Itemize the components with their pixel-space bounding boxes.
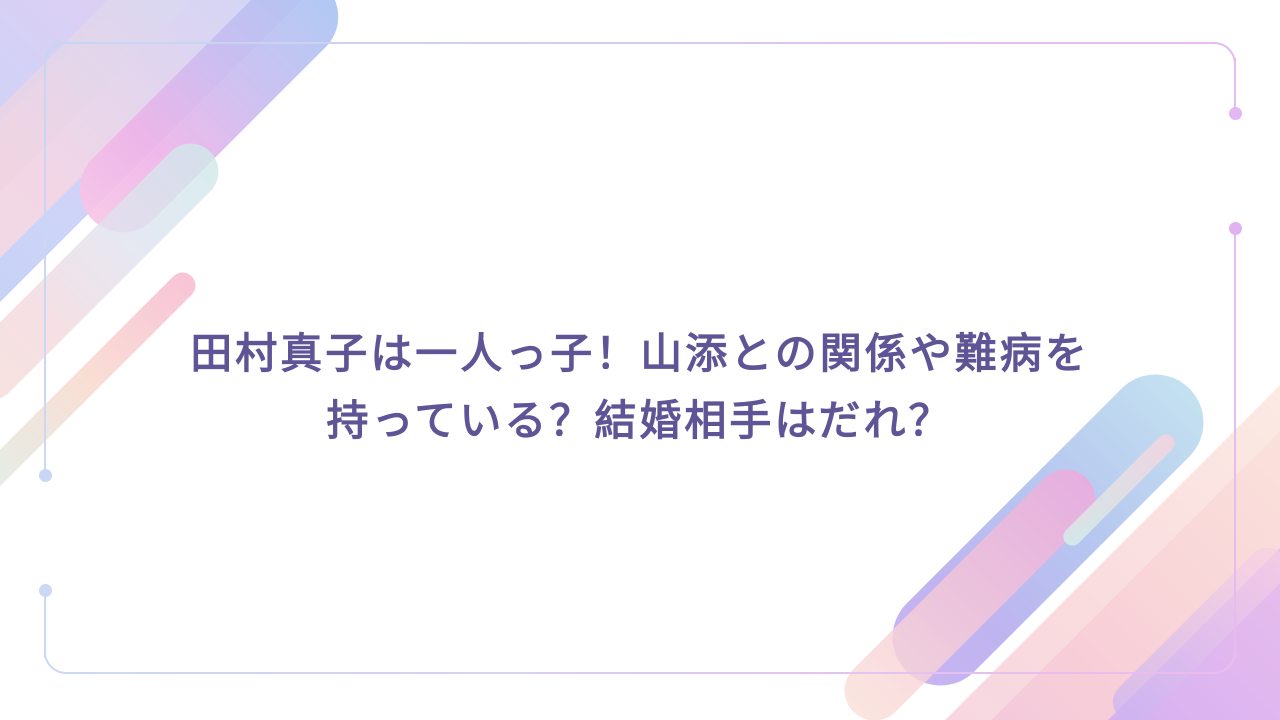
- frame-border-right-upper: [1234, 58, 1236, 113]
- eyecatch-canvas: 田村真子は一人っ子！山添との関係や難病を 持っている？結婚相手はだれ？: [0, 0, 1280, 720]
- frame-dot-right-lower: [1229, 222, 1242, 235]
- frame-corner-bottom-right: [1214, 652, 1236, 674]
- decor-band-top-left-primary: [0, 0, 470, 540]
- page-title-line-2: 持っている？結婚相手はだれ？: [326, 391, 953, 452]
- page-title-line-1: 田村真子は一人っ子！山添との関係や難病を: [190, 324, 1090, 385]
- decor-capsule-top-left-1: [62, 0, 356, 250]
- frame-border-left-lower: [44, 590, 46, 658]
- decor-capsule-bottom-right-2: [832, 457, 1108, 720]
- frame-corner-bottom-left: [44, 652, 66, 674]
- frame-corner-top-right: [1214, 42, 1236, 64]
- frame-border-bottom: [64, 672, 1217, 674]
- frame-border-top: [64, 42, 1217, 44]
- decor-band-top-left-secondary: [0, 0, 522, 372]
- frame-dot-left-lower: [39, 584, 52, 597]
- decor-capsule-bottom-right-4: [1105, 540, 1280, 720]
- frame-dot-left-upper: [39, 469, 52, 482]
- frame-corner-top-left: [44, 42, 66, 64]
- decor-band-bottom-right-primary: [775, 230, 1280, 720]
- frame-dot-right-upper: [1229, 107, 1242, 120]
- page-title: 田村真子は一人っ子！山添との関係や難病を 持っている？結婚相手はだれ？: [0, 324, 1280, 452]
